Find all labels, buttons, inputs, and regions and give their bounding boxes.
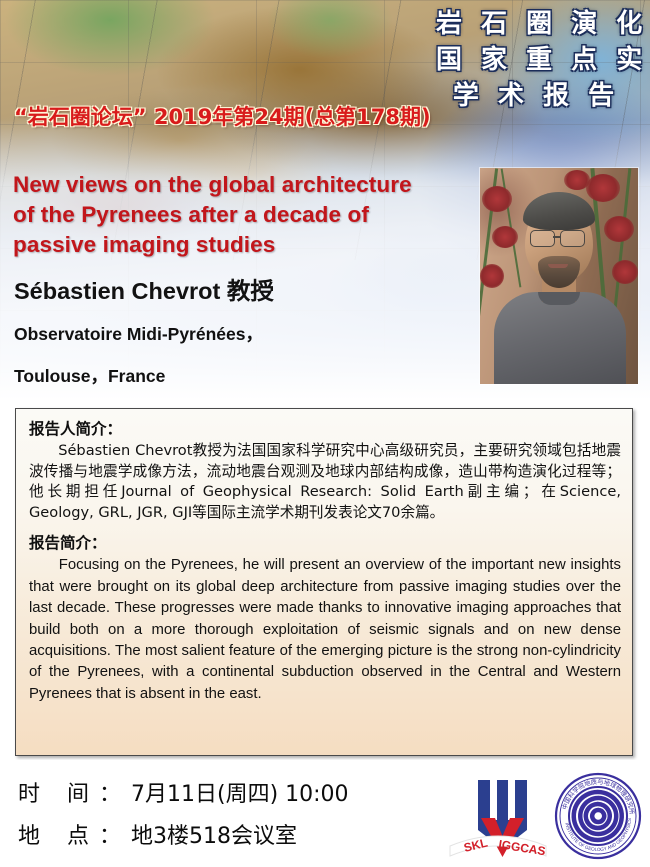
seal-spiral	[574, 792, 622, 840]
portrait-glasses-bridge	[553, 236, 560, 238]
skl-left-label: SKL	[462, 836, 489, 855]
forum-banner: “岩石圈论坛” 2019年第24期(总第178期)	[14, 104, 431, 130]
skl-iggcas-logo-icon: SKL IGGCAS	[448, 774, 548, 862]
abstract-text: Focusing on the Pyrenees, he will presen…	[29, 555, 621, 705]
time-value: 7月11日(周四) 10:00	[131, 782, 349, 807]
portrait-flower	[604, 216, 634, 242]
place-value: 地3楼518会议室	[131, 824, 297, 849]
lab-title-line-1: 岩 石 圈 演 化	[436, 6, 636, 42]
talk-title-line-3: passive imaging studies	[13, 230, 465, 260]
time-label: 时 间：	[18, 782, 131, 807]
speaker-affiliation-line-2: Toulouse，France	[14, 364, 165, 388]
section-spacer	[29, 523, 621, 532]
logo-group: SKL IGGCAS 中国科学院地质与地球物理研究所 INSTITU	[448, 772, 644, 864]
speaker-name: Sébastien Chevrot 教授	[14, 276, 274, 306]
bio-heading: 报告人简介：	[29, 418, 621, 440]
portrait-flower	[586, 174, 620, 202]
skl-logo-svg: SKL IGGCAS	[448, 774, 548, 862]
portrait-collar	[538, 292, 580, 305]
speaker-portrait	[480, 168, 638, 384]
lab-title-block: 岩 石 圈 演 化 国 家 重 点 实 验 室 学 术 报 告	[436, 6, 636, 114]
seal-inner-ring	[560, 778, 636, 854]
portrait-flower	[492, 226, 518, 248]
portrait-glasses-left-lens	[530, 230, 555, 247]
portrait-glasses-right-lens	[560, 230, 585, 247]
portrait-shirt	[494, 292, 626, 384]
place-label: 地 点：	[18, 824, 131, 849]
abstract-heading: 报告简介：	[29, 532, 621, 554]
talk-title: New views on the global architecture of …	[13, 170, 465, 260]
lab-title-line-2: 国 家 重 点 实 验 室	[436, 42, 636, 78]
portrait-flower	[480, 264, 504, 288]
portrait-flower	[612, 260, 638, 284]
skl-right-label: IGGCAS	[498, 837, 547, 858]
iggcas-seal-icon: 中国科学院地质与地球物理研究所 INSTITUTE OF GEOLOGY AND…	[554, 772, 642, 860]
talk-title-line-1: New views on the global architecture	[13, 170, 465, 200]
time-row: 时 间：7月11日(周四) 10:00	[18, 780, 349, 810]
portrait-flower	[564, 170, 590, 190]
iggcas-seal-svg: 中国科学院地质与地球物理研究所 INSTITUTE OF GEOLOGY AND…	[554, 772, 642, 860]
speaker-affiliation-line-1: Observatoire Midi-Pyrénées，	[14, 322, 263, 346]
bio-text: Sébastien Chevrot教授为法国国家科学研究中心高级研究员，主要研究…	[29, 441, 621, 523]
portrait-mouth	[548, 264, 568, 268]
portrait-flower	[482, 186, 512, 212]
talk-title-line-2: of the Pyrenees after a decade of	[13, 200, 465, 230]
seminar-poster: 岩 石 圈 演 化 国 家 重 点 实 验 室 学 术 报 告 “岩石圈论坛” …	[0, 0, 650, 867]
place-row: 地 点：地3楼518会议室	[18, 822, 297, 852]
content-box: 报告人简介： Sébastien Chevrot教授为法国国家科学研究中心高级研…	[15, 408, 633, 756]
lab-title-line-3: 学 术 报 告	[436, 78, 636, 114]
